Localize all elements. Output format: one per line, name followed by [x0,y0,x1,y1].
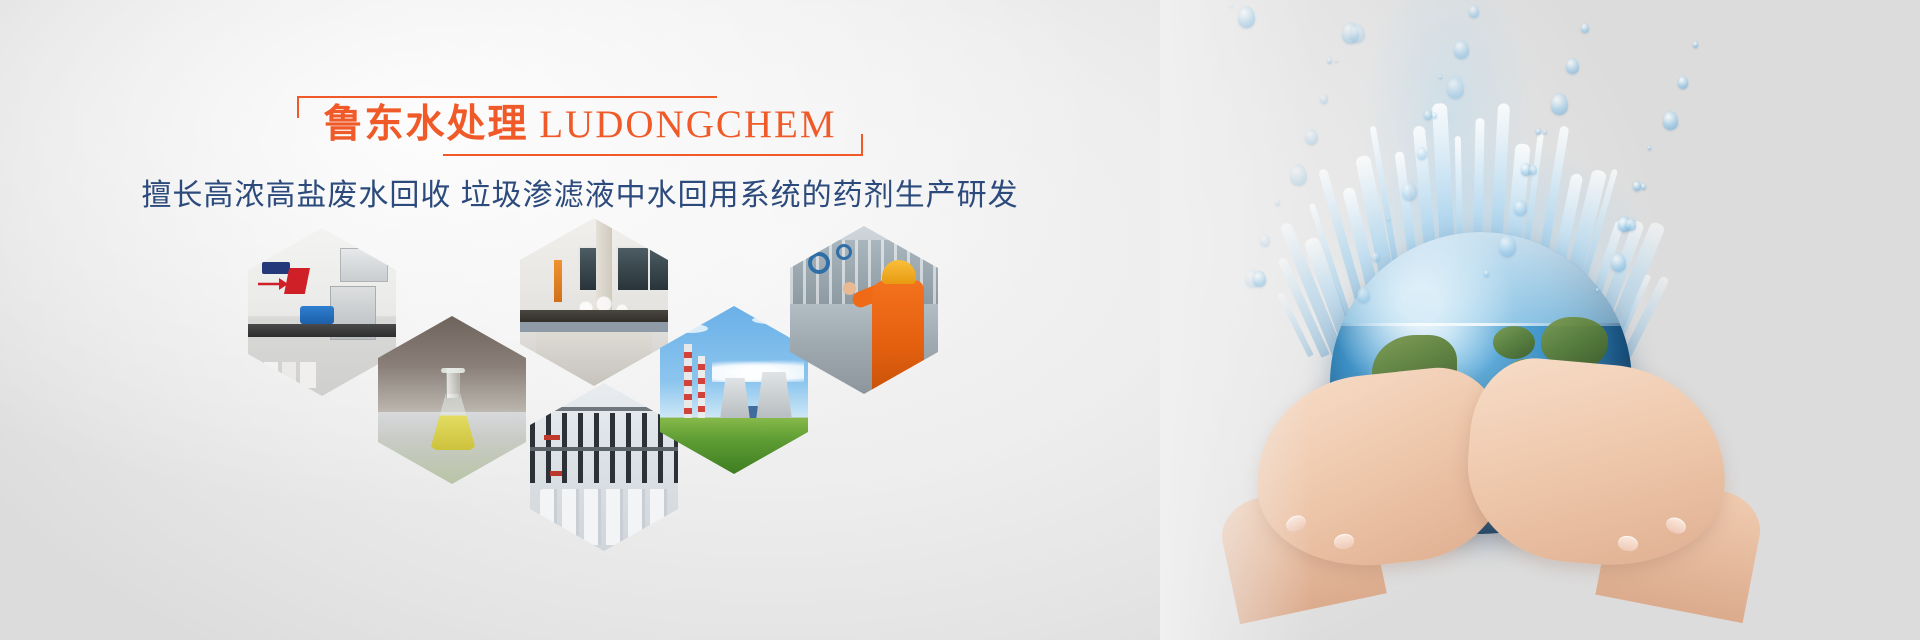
water-droplet [1693,41,1698,48]
brand-name-en: LUDONGCHEM [539,103,836,146]
water-droplet [1335,59,1338,63]
water-droplet [1424,110,1432,120]
water-droplet [1372,252,1380,262]
water-droplet [1499,235,1516,257]
hex-tile-lab-room [248,228,396,396]
water-droplet [1633,181,1641,191]
flask-photo [378,316,526,484]
slogan-blue-block [262,262,290,274]
water-droplet [1357,287,1370,303]
laboratory-photo [520,218,668,386]
slogan-arrow-icon [258,278,288,290]
water-droplet [1596,288,1599,292]
hex-tile-power-plant [660,306,808,474]
cupped-hands [1256,320,1726,620]
cloud [752,316,792,324]
water-droplet [1320,94,1328,104]
membrane-vessels [540,489,672,545]
water-droplet [1484,270,1489,277]
flask-lip [441,368,465,373]
smokestack [698,356,705,420]
water-droplet [1350,24,1365,43]
lab-bench [520,310,668,322]
worker-coverall [872,280,924,390]
lab-bench [248,324,396,337]
hexagon-gallery [230,218,950,518]
valve-wheel [836,244,852,260]
water-droplet [1432,112,1437,119]
water-globe-illustration [1160,0,1920,640]
lab-bench-base [520,322,668,332]
water-droplet [1514,200,1527,216]
wall-slogan-graphic [256,262,328,298]
worker-photo [790,226,938,394]
water-droplet [1387,217,1390,221]
water-droplet [1275,199,1280,206]
chemical-jugs [264,362,316,388]
membrane-equipment-photo [530,383,678,551]
water-droplet [1529,165,1537,175]
hex-tile-lab-glassware [520,218,668,386]
water-droplet [1611,253,1626,272]
water-droplet [1447,77,1464,99]
water-droplet [1417,147,1427,160]
erlenmeyer-flask [430,368,476,450]
water-droplet [1626,218,1636,231]
water-droplet [1327,57,1332,64]
water-droplet [1551,93,1568,115]
hex-tile-membrane-skid [530,383,678,551]
headline-block: 鲁东水处理 LUDONGCHEM 擅长高浓高盐废水回收 垃圾渗滤液中水回用系统的… [0,96,1160,216]
water-surface-upper [1330,232,1632,323]
water-droplet [1469,5,1479,18]
water-droplet [1678,76,1688,89]
lab-room-photo [248,228,396,396]
red-valve-handle [550,471,562,476]
water-droplet [1439,75,1442,79]
water-droplet [1305,129,1318,145]
window-pane [648,246,668,292]
water-droplet [1260,234,1270,247]
water-droplet [1641,183,1646,190]
water-droplet [1566,58,1579,74]
hex-tile-worker [790,226,938,394]
water-droplet [1402,182,1417,201]
water-droplet [1230,4,1233,8]
valve-wheel [808,252,830,274]
cloud [674,324,708,333]
water-droplet [1648,146,1651,150]
water-droplet [1581,23,1589,33]
upper-pipe-rail [530,407,678,411]
wall-cabinet [340,248,388,282]
page-subtitle: 擅长高浓高盐废水回收 垃圾渗滤液中水回用系统的药剂生产研发 [0,176,1160,216]
water-droplet [1290,164,1307,186]
red-valve-handle [544,435,560,440]
water-droplet [1253,271,1266,287]
power-plant-photo [660,306,808,474]
water-droplet [1536,128,1541,135]
lower-pipe-rail [530,447,678,451]
front-counter [536,332,652,386]
water-droplet [1544,130,1547,134]
water-droplet [1238,6,1255,28]
brand-name-cn: 鲁东水处理 [323,103,528,146]
orange-lab-stand [554,260,562,302]
title-frame: 鲁东水处理 LUDONGCHEM [297,96,862,156]
blue-instrument [300,306,334,324]
green-field [660,418,808,474]
page-title: 鲁东水处理 LUDONGCHEM [323,102,836,148]
water-droplet [1454,40,1469,59]
hex-tile-flask [378,316,526,484]
hero-banner: 鲁东水处理 LUDONGCHEM 擅长高浓高盐废水回收 垃圾渗滤液中水回用系统的… [0,0,1920,640]
flask-body [430,394,476,450]
water-droplet [1663,111,1678,130]
cooling-tower [720,378,750,420]
smokestack [684,344,692,420]
